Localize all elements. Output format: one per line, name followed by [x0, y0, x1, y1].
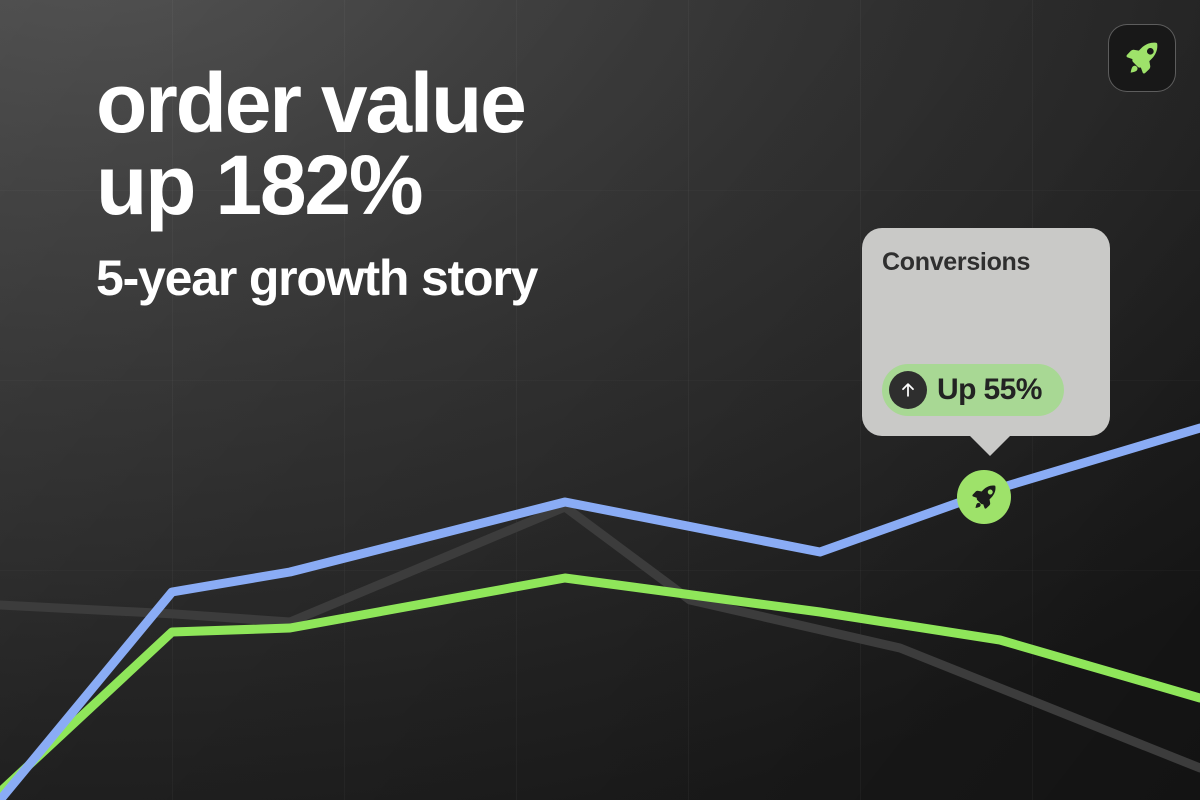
rocket-icon [969, 482, 999, 512]
title-line-1: order value [96, 56, 525, 150]
brand-logo-badge[interactable] [1108, 24, 1176, 92]
tooltip-tail [968, 434, 1012, 456]
tooltip-title: Conversions [882, 250, 1090, 275]
chart-tooltip-card[interactable]: Conversions Up 55% [862, 228, 1110, 436]
page-subtitle: 5-year growth story [96, 227, 816, 304]
promo-card: order valueup 182% 5-year growth story C… [0, 0, 1200, 800]
chart-data-point-marker[interactable] [957, 470, 1011, 524]
status-badge-label: Up 55% [937, 375, 1042, 405]
headline-block: order valueup 182% 5-year growth story [96, 62, 816, 304]
chart-line-baseline [0, 507, 1200, 768]
page-title: order valueup 182% [96, 62, 816, 227]
title-line-2: up 182% [96, 144, 816, 226]
arrow-up-icon [889, 371, 927, 409]
status-badge: Up 55% [882, 364, 1064, 416]
arrow-up-glyph [898, 380, 918, 400]
rocket-icon [1122, 38, 1162, 78]
